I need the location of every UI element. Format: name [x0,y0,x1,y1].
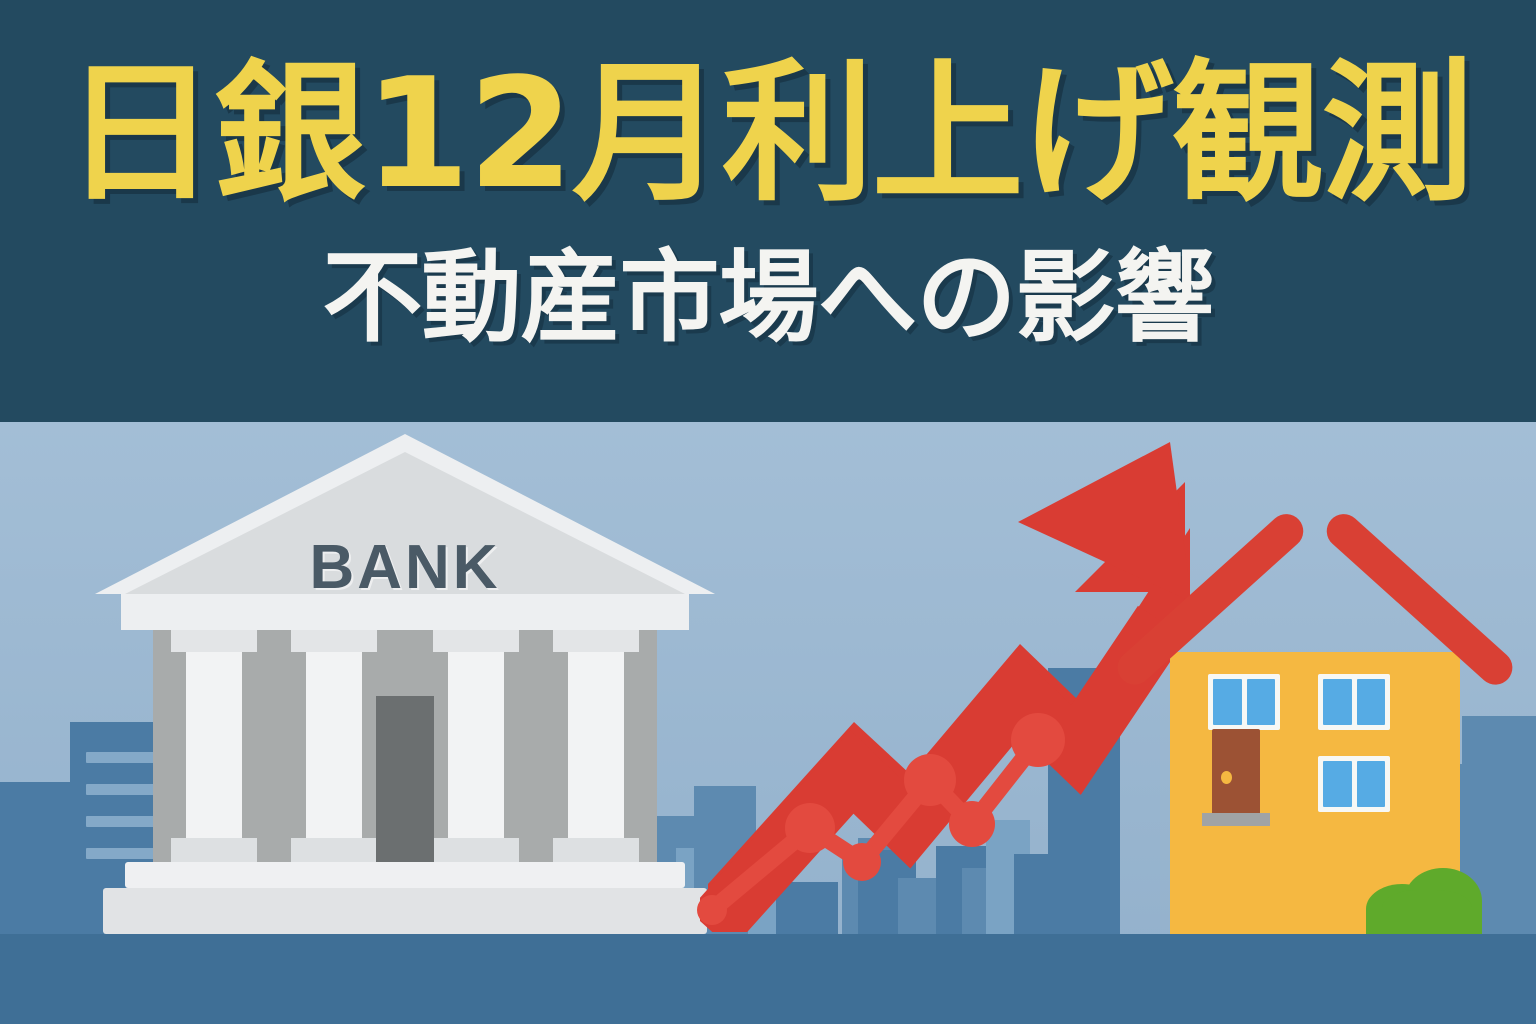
door-knob-icon [1221,771,1232,784]
window-pane [1357,679,1386,725]
bush-shrub [1366,864,1482,934]
house-window [1318,756,1390,812]
ground-strip [0,934,1536,1024]
house-window [1208,674,1280,730]
window-pane [1247,679,1276,725]
bank-column-capital [433,630,519,652]
window-pane [1323,679,1352,725]
bank-column [448,652,504,838]
line-chart [690,702,1090,932]
bank-column-base [433,838,519,862]
bank-door [376,696,434,862]
chart-data-point [904,754,956,806]
chart-data-point [1011,713,1065,767]
bank-column-capital [553,630,639,652]
header-band: 日銀12月利上げ観測 不動産市場への影響 [0,0,1536,422]
bank-column-capital [291,630,377,652]
poster-root: BANK [0,0,1536,1024]
page-title: 日銀12月利上げ観測 [0,58,1536,210]
house-window [1318,674,1390,730]
bank-column-base [553,838,639,862]
bank-column [568,652,624,838]
scene-illustration: BANK [0,422,1536,1024]
chart-data-point [949,801,995,847]
house-stoop [1202,813,1270,826]
bank-column [186,652,242,838]
window-pane [1357,761,1386,807]
bank-sign-label: BANK [95,532,715,603]
bank-step [125,862,685,888]
skyline-building [0,782,70,934]
page-subtitle: 不動産市場への影響 [0,248,1536,348]
bank-building: BANK [95,434,715,934]
bank-column-base [291,838,377,862]
chart-data-point [843,843,881,881]
chart-data-point [785,803,835,853]
bank-column-base [171,838,257,862]
window-pane [1213,679,1242,725]
bush-lobe [1382,890,1472,934]
house-door [1212,729,1260,813]
chart-data-point [697,895,727,925]
house-illustration [1130,534,1500,934]
bank-column [306,652,362,838]
bank-step [103,888,707,934]
window-pane [1323,761,1352,807]
bank-column-capital [171,630,257,652]
